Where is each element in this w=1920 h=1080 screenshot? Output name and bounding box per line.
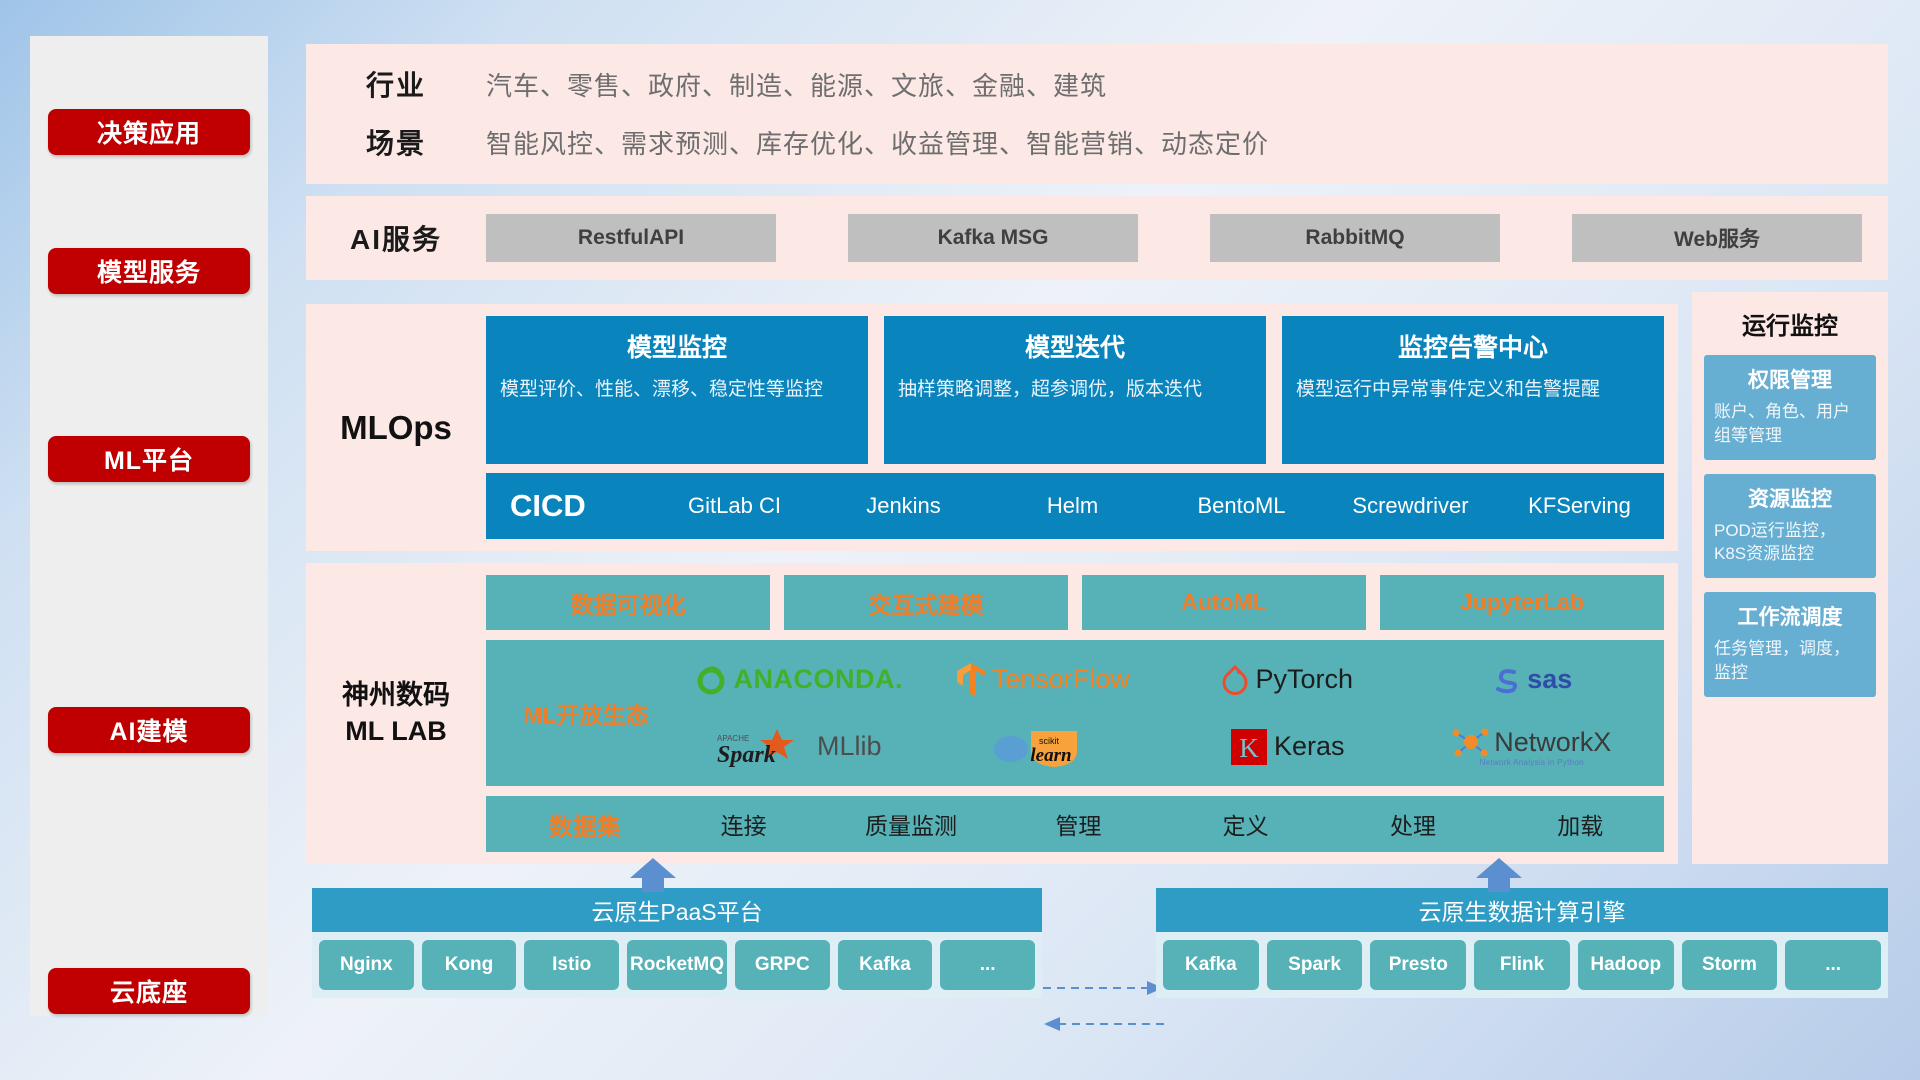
logo-label: PyTorch bbox=[1255, 664, 1353, 695]
rail-badge-model-service[interactable]: 模型服务 bbox=[48, 248, 250, 294]
cloud-chip-flink[interactable]: Flink bbox=[1474, 940, 1570, 990]
dataset-item-connect[interactable]: 连接 bbox=[660, 807, 827, 841]
chip-label: Kafka MSG bbox=[938, 226, 1049, 250]
ai-service-panel: AI服务 RestfulAPI Kafka MSG RabbitMQ Web服务 bbox=[306, 196, 1888, 280]
keras-logo: K Keras bbox=[1230, 728, 1345, 766]
tool-chip-interactive-modeling[interactable]: 交互式建模 bbox=[784, 575, 1068, 630]
ml-lab-label: 神州数码 ML LAB bbox=[306, 575, 486, 852]
logo-label: ANACONDA. bbox=[734, 664, 904, 695]
mlops-row: MLOps 模型监控 模型评价、性能、漂移、稳定性等监控 模型迭代 抽样策略调整… bbox=[306, 304, 1678, 551]
scenario-row-value: 智能风控、需求预测、库存优化、收益管理、智能营销、动态定价 bbox=[486, 124, 1888, 161]
main-column: 行业 汽车、零售、政府、制造、能源、文旅、金融、建筑 场景 智能风控、需求预测、… bbox=[306, 44, 1888, 864]
monitor-card-permission[interactable]: 权限管理 账户、角色、用户组等管理 bbox=[1704, 355, 1876, 460]
card-desc: 账户、角色、用户组等管理 bbox=[1714, 400, 1866, 448]
ai-service-label: AI服务 bbox=[306, 218, 486, 258]
card-desc: 模型评价、性能、漂移、稳定性等监控 bbox=[500, 376, 854, 404]
card-title: 工作流调度 bbox=[1714, 601, 1866, 631]
mlops-card-model-monitoring[interactable]: 模型监控 模型评价、性能、漂移、稳定性等监控 bbox=[486, 316, 868, 464]
monitoring-title: 运行监控 bbox=[1704, 306, 1876, 341]
card-title: 模型迭代 bbox=[898, 328, 1252, 364]
chip-label: RabbitMQ bbox=[1305, 226, 1404, 250]
pytorch-logo: PyTorch bbox=[1221, 664, 1353, 696]
rail-badge-label: 模型服务 bbox=[97, 253, 201, 289]
cloud-chip-more[interactable]: ... bbox=[1785, 940, 1881, 990]
card-desc: 抽样策略调整，超参调优，版本迭代 bbox=[898, 376, 1252, 404]
monitor-card-resource[interactable]: 资源监控 POD运行监控，K8S资源监控 bbox=[1704, 474, 1876, 579]
ai-service-chip-web-service[interactable]: Web服务 bbox=[1572, 214, 1862, 262]
mlops-card-model-iteration[interactable]: 模型迭代 抽样策略调整，超参调优，版本迭代 bbox=[884, 316, 1266, 464]
cloud-compute-group: 云原生数据计算引擎 Kafka Spark Presto Flink Hadoo… bbox=[1156, 888, 1888, 998]
dataset-title: 数据集 bbox=[510, 807, 660, 842]
spark-mllib-logo: APACHE Spark MLlib bbox=[715, 727, 882, 767]
cloud-chip-hadoop[interactable]: Hadoop bbox=[1578, 940, 1674, 990]
sas-logo: sas bbox=[1491, 664, 1572, 695]
modeling-content: 数据可视化 交互式建模 AutoML JupyterLab ML开放生态 ANA… bbox=[486, 575, 1664, 852]
rail-badge-label: AI建模 bbox=[109, 712, 188, 748]
ai-service-chip-rabbitmq[interactable]: RabbitMQ bbox=[1210, 214, 1500, 262]
chip-label: RestfulAPI bbox=[578, 226, 684, 250]
logo-label: Keras bbox=[1274, 731, 1345, 762]
card-title: 模型监控 bbox=[500, 328, 854, 364]
rail-badge-label: 云底座 bbox=[110, 973, 188, 1009]
cloud-paas-group: 云原生PaaS平台 Nginx Kong Istio RocketMQ GRPC… bbox=[312, 888, 1042, 998]
cloud-paas-chip-list: Nginx Kong Istio RocketMQ GRPC Kafka ... bbox=[312, 932, 1042, 998]
rail-badge-ml-platform[interactable]: ML平台 bbox=[48, 436, 250, 482]
tool-chip-jupyterlab[interactable]: JupyterLab bbox=[1380, 575, 1664, 630]
cloud-chip-nginx[interactable]: Nginx bbox=[319, 940, 414, 990]
cicd-item-kfserving[interactable]: KFServing bbox=[1495, 492, 1664, 520]
cloud-paas-title: 云原生PaaS平台 bbox=[312, 888, 1042, 932]
monitor-card-workflow[interactable]: 工作流调度 任务管理，调度，监控 bbox=[1704, 592, 1876, 697]
industry-scenario-panel: 行业 汽车、零售、政府、制造、能源、文旅、金融、建筑 场景 智能风控、需求预测、… bbox=[306, 44, 1888, 184]
rail-badge-decision-app[interactable]: 决策应用 bbox=[48, 109, 250, 155]
tensorflow-logo: TensorFlow bbox=[956, 662, 1130, 698]
left-rail: 决策应用 模型服务 ML平台 AI建模 云底座 bbox=[30, 36, 268, 1016]
cloud-chip-kafka[interactable]: Kafka bbox=[1163, 940, 1259, 990]
card-desc: 任务管理，调度，监控 bbox=[1714, 637, 1866, 685]
industry-row-label: 行业 bbox=[306, 64, 486, 104]
logo-label: NetworkX bbox=[1494, 727, 1611, 758]
dataset-item-processing[interactable]: 处理 bbox=[1329, 807, 1496, 841]
card-title: 监控告警中心 bbox=[1296, 328, 1650, 364]
mlops-content: 模型监控 模型评价、性能、漂移、稳定性等监控 模型迭代 抽样策略调整，超参调优，… bbox=[486, 316, 1664, 539]
mlops-card-alert-center[interactable]: 监控告警中心 模型运行中异常事件定义和告警提醒 bbox=[1282, 316, 1664, 464]
cloud-chip-storm[interactable]: Storm bbox=[1682, 940, 1778, 990]
cloud-chip-more[interactable]: ... bbox=[940, 940, 1035, 990]
ml-ecosystem-logo-grid: ANACONDA. TensorFlow PyTorch bbox=[676, 646, 1654, 780]
cicd-item-bentoml[interactable]: BentoML bbox=[1157, 492, 1326, 520]
ai-service-chip-list: RestfulAPI Kafka MSG RabbitMQ Web服务 bbox=[486, 214, 1888, 262]
bidirectional-connector bbox=[1041, 976, 1166, 1036]
scenario-row-label: 场景 bbox=[306, 122, 486, 162]
rail-badge-cloud-base[interactable]: 云底座 bbox=[48, 968, 250, 1014]
rail-badge-label: 决策应用 bbox=[97, 114, 201, 150]
logo-label: sas bbox=[1527, 664, 1572, 695]
scikit-learn-logo: scikit learn bbox=[991, 725, 1095, 769]
cicd-item-gitlab-ci[interactable]: GitLab CI bbox=[650, 492, 819, 520]
cloud-chip-istio[interactable]: Istio bbox=[524, 940, 619, 990]
cloud-compute-title: 云原生数据计算引擎 bbox=[1156, 888, 1888, 932]
cloud-chip-kafka[interactable]: Kafka bbox=[838, 940, 933, 990]
up-arrow-icon bbox=[1476, 858, 1522, 892]
ml-lab-label-line2: ML LAB bbox=[345, 714, 447, 750]
rail-badge-label: ML平台 bbox=[104, 441, 194, 477]
card-title: 权限管理 bbox=[1714, 364, 1866, 394]
networkx-logo: NetworkX Network Analysis in Python bbox=[1452, 726, 1611, 767]
cicd-item-jenkins[interactable]: Jenkins bbox=[819, 492, 988, 520]
ai-service-chip-restfulapi[interactable]: RestfulAPI bbox=[486, 214, 776, 262]
networkx-tagline: Network Analysis in Python bbox=[1480, 758, 1584, 767]
card-desc: 模型运行中异常事件定义和告警提醒 bbox=[1296, 376, 1650, 404]
dataset-bar: 数据集 连接 质量监测 管理 定义 处理 加载 bbox=[486, 796, 1664, 852]
svg-text:Spark: Spark bbox=[717, 742, 776, 767]
dataset-item-definition[interactable]: 定义 bbox=[1162, 807, 1329, 841]
dataset-item-loading[interactable]: 加载 bbox=[1497, 807, 1664, 841]
platform-and-monitor-wrapper: MLOps 模型监控 模型评价、性能、漂移、稳定性等监控 模型迭代 抽样策略调整… bbox=[306, 292, 1888, 864]
card-title: 资源监控 bbox=[1714, 483, 1866, 513]
logo-label: MLlib bbox=[817, 731, 882, 762]
platform-stack: MLOps 模型监控 模型评价、性能、漂移、稳定性等监控 模型迭代 抽样策略调整… bbox=[306, 292, 1678, 864]
dataset-item-management[interactable]: 管理 bbox=[995, 807, 1162, 841]
ai-service-chip-kafka-msg[interactable]: Kafka MSG bbox=[848, 214, 1138, 262]
modeling-row: 神州数码 ML LAB 数据可视化 交互式建模 AutoML JupyterLa… bbox=[306, 563, 1678, 864]
cloud-chip-rocketmq[interactable]: RocketMQ bbox=[627, 940, 727, 990]
modeling-tool-list: 数据可视化 交互式建模 AutoML JupyterLab bbox=[486, 575, 1664, 630]
modeling-panel: 神州数码 ML LAB 数据可视化 交互式建模 AutoML JupyterLa… bbox=[306, 563, 1678, 864]
cicd-bar: CICD GitLab CI Jenkins Helm BentoML Scre… bbox=[486, 473, 1664, 539]
logo-label: TensorFlow bbox=[992, 664, 1130, 695]
dataset-item-quality-monitoring[interactable]: 质量监测 bbox=[827, 807, 994, 841]
monitoring-panel: 运行监控 权限管理 账户、角色、用户组等管理 资源监控 POD运行监控，K8S资… bbox=[1692, 292, 1888, 864]
cloud-chip-grpc[interactable]: GRPC bbox=[735, 940, 830, 990]
cicd-title: CICD bbox=[510, 488, 650, 524]
cloud-compute-chip-list: Kafka Spark Presto Flink Hadoop Storm ..… bbox=[1156, 932, 1888, 998]
cloud-chip-presto[interactable]: Presto bbox=[1370, 940, 1466, 990]
chip-label: Web服务 bbox=[1674, 223, 1760, 253]
ml-lab-label-line1: 神州数码 bbox=[342, 678, 450, 714]
ml-ecosystem-box: ML开放生态 ANACONDA. TensorFlow bbox=[486, 640, 1664, 786]
tool-chip-automl[interactable]: AutoML bbox=[1082, 575, 1366, 630]
up-arrow-icon bbox=[630, 858, 676, 892]
cloud-foundation-section: 云原生PaaS平台 Nginx Kong Istio RocketMQ GRPC… bbox=[306, 858, 1888, 1038]
rail-badge-ai-modeling[interactable]: AI建模 bbox=[48, 707, 250, 753]
mlops-panel: MLOps 模型监控 模型评价、性能、漂移、稳定性等监控 模型迭代 抽样策略调整… bbox=[306, 304, 1678, 551]
cloud-chip-spark[interactable]: Spark bbox=[1267, 940, 1363, 990]
mlops-card-list: 模型监控 模型评价、性能、漂移、稳定性等监控 模型迭代 抽样策略调整，超参调优，… bbox=[486, 316, 1664, 464]
anaconda-logo: ANACONDA. bbox=[694, 663, 904, 697]
tool-chip-data-visualization[interactable]: 数据可视化 bbox=[486, 575, 770, 630]
svg-text:K: K bbox=[1239, 733, 1259, 763]
industry-row-value: 汽车、零售、政府、制造、能源、文旅、金融、建筑 bbox=[486, 66, 1888, 103]
cicd-item-helm[interactable]: Helm bbox=[988, 492, 1157, 520]
ml-ecosystem-label: ML开放生态 bbox=[496, 696, 676, 730]
svg-text:learn: learn bbox=[1030, 745, 1071, 766]
cicd-item-screwdriver[interactable]: Screwdriver bbox=[1326, 492, 1495, 520]
cloud-chip-kong[interactable]: Kong bbox=[422, 940, 517, 990]
mlops-label: MLOps bbox=[306, 316, 486, 539]
card-desc: POD运行监控，K8S资源监控 bbox=[1714, 519, 1866, 567]
